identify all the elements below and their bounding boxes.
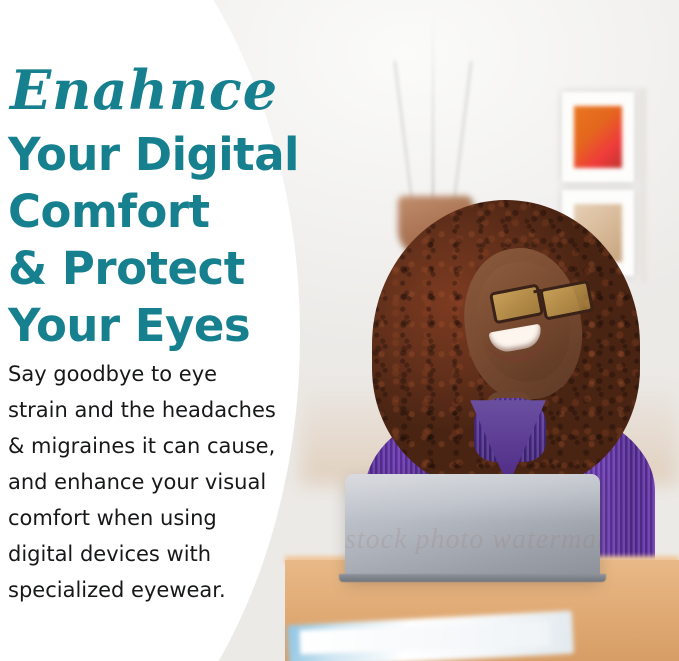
- body-line-2: strain and the headaches: [8, 392, 304, 428]
- body-line-7: specialized eyewear.: [8, 572, 304, 608]
- headline-line-3: & Protect: [8, 240, 308, 297]
- body-line-1: Say goodbye to eye: [8, 356, 304, 392]
- headline-block: Your Digital Comfort & Protect Your Eyes: [8, 126, 308, 354]
- stock-watermark: stock photo watermark: [345, 524, 600, 556]
- headline-line-1: Your Digital: [8, 126, 308, 183]
- laptop-lid-sheen: [345, 474, 600, 523]
- advertisement-banner: stock photo watermark Enahnce Your Digit…: [0, 0, 679, 661]
- laptop-base: [339, 574, 606, 582]
- artwork-orange: [574, 106, 622, 168]
- body-line-6: digital devices with: [8, 536, 304, 572]
- framed-picture-orange: [562, 92, 634, 182]
- body-paragraph: Say goodbye to eye strain and the headac…: [8, 356, 304, 608]
- glasses-lens-right: [539, 280, 594, 321]
- headline-line-2: Comfort: [8, 183, 308, 240]
- headline-script-word: Enahnce: [10, 63, 278, 117]
- laptop: stock photo watermark: [345, 474, 600, 580]
- headline-line-4: Your Eyes: [8, 297, 308, 354]
- body-line-5: comfort when using: [8, 500, 304, 536]
- body-line-4: and enhance your visual: [8, 464, 304, 500]
- wall-frame-edge: [636, 88, 646, 283]
- body-line-3: & migraines it can cause,: [8, 428, 304, 464]
